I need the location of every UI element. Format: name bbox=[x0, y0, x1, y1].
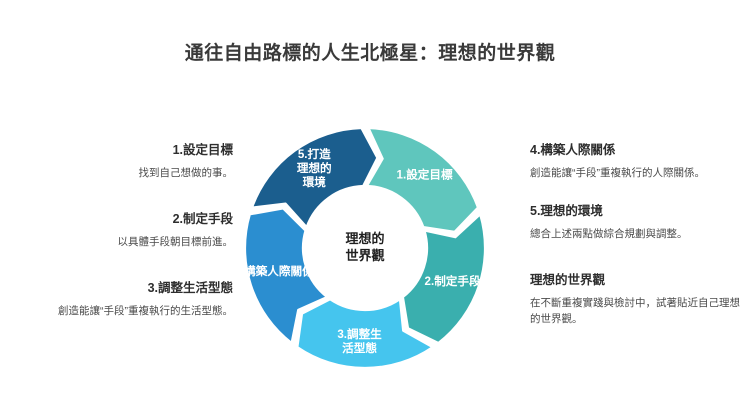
note-item-summary: 理想的世界觀 在不斷重複實踐與檢討中，試著貼近自己理想的世界觀。 bbox=[530, 272, 740, 327]
note-body: 以具體手段朝目標前進。 bbox=[18, 234, 233, 250]
note-heading: 1.設定目標 bbox=[18, 142, 233, 159]
note-heading: 2.制定手段 bbox=[18, 211, 233, 228]
cycle-donut-chart: 理想的世界觀 1.設定目標2.制定手段3.調整生活型態4.構築人際關係5.打造理… bbox=[243, 126, 487, 370]
donut-segment-label-4: 4.構築人際關係 bbox=[243, 264, 314, 278]
note-heading: 理想的世界觀 bbox=[530, 272, 740, 289]
right-notes-column: 4.構築人際關係 創造能讓“手段”重複執行的人際關係。 5.理想的環境 總合上述… bbox=[530, 142, 740, 352]
left-notes-column: 1.設定目標 找到自己想做的事。 2.制定手段 以具體手段朝目標前進。 3.調整… bbox=[18, 142, 233, 343]
note-item-4: 4.構築人際關係 創造能讓“手段”重複執行的人際關係。 bbox=[530, 142, 740, 181]
note-heading: 4.構築人際關係 bbox=[530, 142, 740, 159]
note-item-2: 2.制定手段 以具體手段朝目標前進。 bbox=[18, 211, 233, 250]
note-body: 創造能讓“手段”重複執行的生活型態。 bbox=[18, 303, 233, 319]
donut-svg: 理想的世界觀 1.設定目標2.制定手段3.調整生活型態4.構築人際關係5.打造理… bbox=[243, 126, 487, 370]
note-heading: 5.理想的環境 bbox=[530, 203, 740, 220]
note-body: 在不斷重複實踐與檢討中，試著貼近自己理想的世界觀。 bbox=[530, 295, 740, 328]
donut-center-line-1: 理想的 bbox=[345, 231, 384, 246]
note-body: 創造能讓“手段”重複執行的人際關係。 bbox=[530, 165, 740, 181]
donut-segment-label-2: 2.制定手段 bbox=[425, 274, 481, 288]
note-body: 找到自己想做的事。 bbox=[18, 165, 233, 181]
donut-center-line-2: 世界觀 bbox=[345, 248, 384, 263]
note-item-1: 1.設定目標 找到自己想做的事。 bbox=[18, 142, 233, 181]
page-title: 通往自由路標的人生北極星：理想的世界觀 bbox=[0, 38, 740, 65]
note-item-3: 3.調整生活型態 創造能讓“手段”重複執行的生活型態。 bbox=[18, 280, 233, 319]
note-body: 總合上述兩點做綜合規劃與調整。 bbox=[530, 226, 740, 242]
note-item-5: 5.理想的環境 總合上述兩點做綜合規劃與調整。 bbox=[530, 203, 740, 242]
note-heading: 3.調整生活型態 bbox=[18, 280, 233, 297]
donut-segment-label-1: 1.設定目標 bbox=[397, 167, 453, 181]
donut-segment-label-3: 3.調整生活型態 bbox=[337, 327, 382, 355]
